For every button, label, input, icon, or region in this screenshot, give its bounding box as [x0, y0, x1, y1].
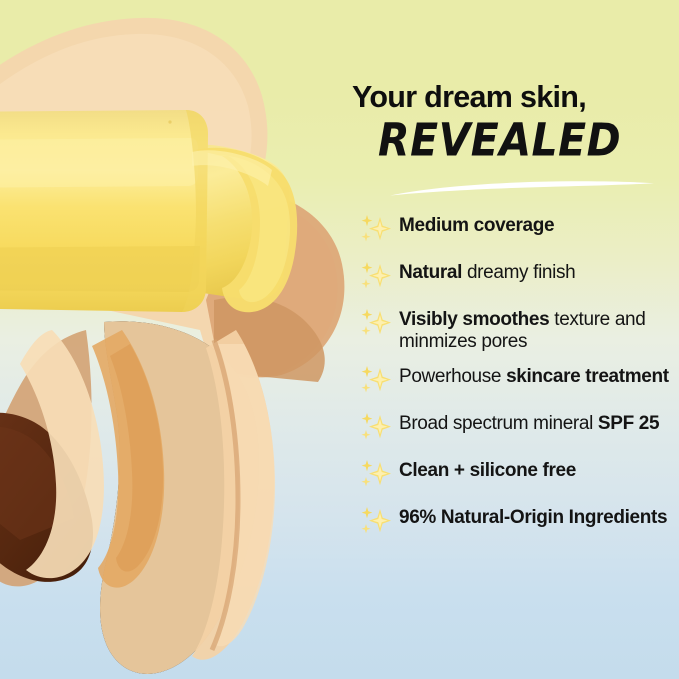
bullet-0-part-0: Medium coverage — [399, 215, 554, 236]
bullet-1-part-0: Natural — [399, 262, 467, 283]
bullet-1-part-1: dreamy finish — [467, 262, 575, 283]
list-item: Natural dreamy finish — [358, 260, 679, 296]
brush-underline-icon — [388, 178, 656, 200]
bullet-5-part-0: Clean + silicone free — [399, 460, 576, 481]
list-item-label: Powerhouse skincare treatment — [399, 364, 679, 388]
sparkle-icon — [358, 459, 394, 493]
bullet-3-part-1: skincare treatment — [506, 366, 669, 387]
list-item-label: Visibly smoothes texture and minmizes po… — [399, 307, 679, 353]
list-item: 96% Natural-Origin Ingredients — [358, 505, 679, 541]
sparkle-icon — [358, 506, 394, 540]
bullet-6-part-0: 96% Natural-Origin Ingredients — [399, 507, 667, 528]
sparkle-icon — [358, 261, 394, 295]
list-item-label: 96% Natural-Origin Ingredients — [399, 505, 679, 529]
list-item-label: Clean + silicone free — [399, 458, 679, 482]
list-item-label: Broad spectrum mineral SPF 25 — [399, 411, 679, 435]
bullet-4-part-1: SPF 25 — [598, 413, 659, 434]
list-item: Broad spectrum mineral SPF 25 — [358, 411, 679, 447]
bullet-3-part-0: Powerhouse — [399, 366, 506, 387]
marketing-graphic: Your dream skin, REVEALED Medium covera — [0, 0, 679, 679]
headline-line-1: Your dream skin, — [352, 82, 679, 114]
headline-line-2: REVEALED — [378, 116, 679, 165]
list-item: Medium coverage — [358, 213, 679, 249]
list-item: Visibly smoothes texture and minmizes po… — [358, 307, 679, 353]
sparkle-icon — [358, 214, 394, 248]
benefits-list: Medium coverage Natural dreamy finish — [358, 213, 679, 552]
sparkle-icon — [358, 412, 394, 446]
page-title: Your dream skin, REVEALED — [352, 82, 679, 160]
text-panel: Your dream skin, REVEALED Medium covera — [352, 0, 679, 679]
list-item: Clean + silicone free — [358, 458, 679, 494]
sparkle-icon — [358, 308, 394, 342]
bullet-4-part-0: Broad spectrum mineral — [399, 413, 598, 434]
list-item-label: Natural dreamy finish — [399, 260, 679, 284]
product-artwork — [0, 0, 352, 679]
list-item: Powerhouse skincare treatment — [358, 364, 679, 400]
sparkle-icon — [358, 365, 394, 399]
bullet-2-part-0: Visibly smoothes — [399, 309, 554, 330]
list-item-label: Medium coverage — [399, 213, 679, 237]
